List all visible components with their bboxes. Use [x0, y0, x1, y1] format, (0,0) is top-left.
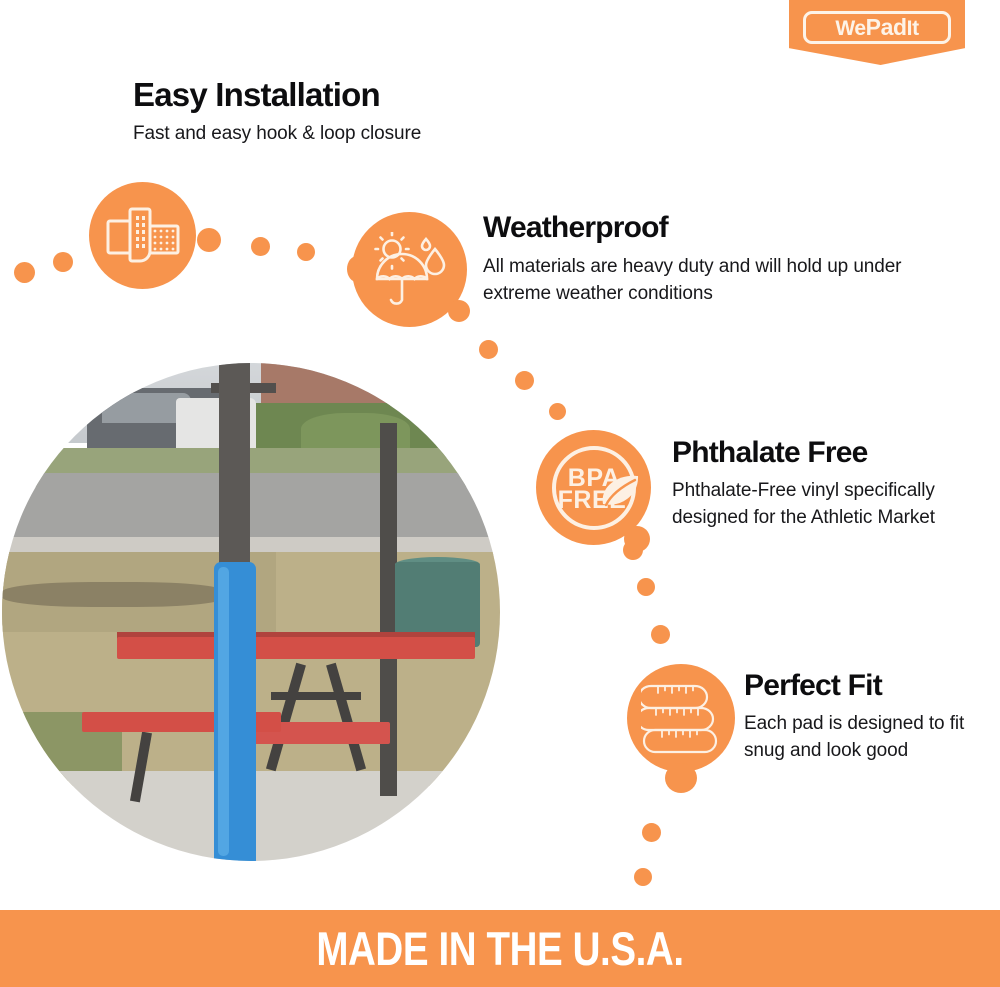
trail-dot [549, 403, 566, 420]
feature-block-phthalate-free: Phthalate Free Phthalate-Free vinyl spec… [672, 437, 982, 532]
feature-subtitle: Each pad is designed to fit snug and loo… [744, 710, 994, 765]
product-photo [2, 363, 500, 861]
sun-umbrella-rain-icon [369, 232, 451, 308]
feature-subtitle: Phthalate-Free vinyl specifically design… [672, 477, 982, 532]
feature-block-easy-installation: Easy Installation Fast and easy hook & l… [133, 78, 553, 145]
trail-dot [14, 262, 35, 283]
badge-nub [347, 256, 367, 282]
feature-title: Easy Installation [133, 78, 553, 113]
trail-dot [515, 371, 534, 390]
badge-nub [197, 228, 221, 252]
logo-text-pad: Pad [866, 16, 907, 39]
icon-badge-perfect-fit [627, 664, 735, 772]
trail-dot [637, 578, 655, 596]
badge-nub [665, 763, 697, 793]
trail-dot [53, 252, 73, 272]
feature-title: Weatherproof [483, 212, 913, 244]
feature-title: Phthalate Free [672, 437, 982, 469]
badge-nub [448, 300, 470, 322]
measuring-tape-icon [641, 680, 721, 756]
banner-label: MADE IN THE U.S.A. [316, 921, 683, 976]
icon-badge-weatherproof [352, 212, 467, 327]
feature-subtitle: Fast and easy hook & loop closure [133, 123, 553, 145]
icon-badge-hook-and-loop [89, 182, 196, 289]
logo-text-it: It [907, 18, 919, 39]
feature-block-weatherproof: Weatherproof All materials are heavy dut… [483, 212, 913, 308]
badge-nub [624, 526, 650, 552]
bpa-free-leaf-icon: BPA FREE [542, 436, 646, 540]
brand-logo: WePadIt [789, 0, 965, 65]
infographic-page: WePadIt Easy Installation Fast and easy … [0, 0, 1000, 987]
feature-subtitle: All materials are heavy duty and will ho… [483, 253, 913, 308]
feature-block-perfect-fit: Perfect Fit Each pad is designed to fit … [744, 670, 994, 765]
trail-dot [479, 340, 498, 359]
trail-dot [297, 243, 315, 261]
made-in-usa-banner: MADE IN THE U.S.A. [0, 910, 1000, 987]
logo-outline-box: WePadIt [803, 11, 951, 44]
logo-text-we: We [835, 18, 865, 39]
icon-badge-bpa-free: BPA FREE [536, 430, 651, 545]
trail-dot [642, 823, 661, 842]
feature-title: Perfect Fit [744, 670, 994, 702]
logo-wordmark: WePadIt [835, 16, 918, 39]
trail-dot [251, 237, 270, 256]
trail-dot [634, 868, 652, 886]
trail-dot [651, 625, 670, 644]
hook-and-loop-icon [106, 207, 180, 265]
